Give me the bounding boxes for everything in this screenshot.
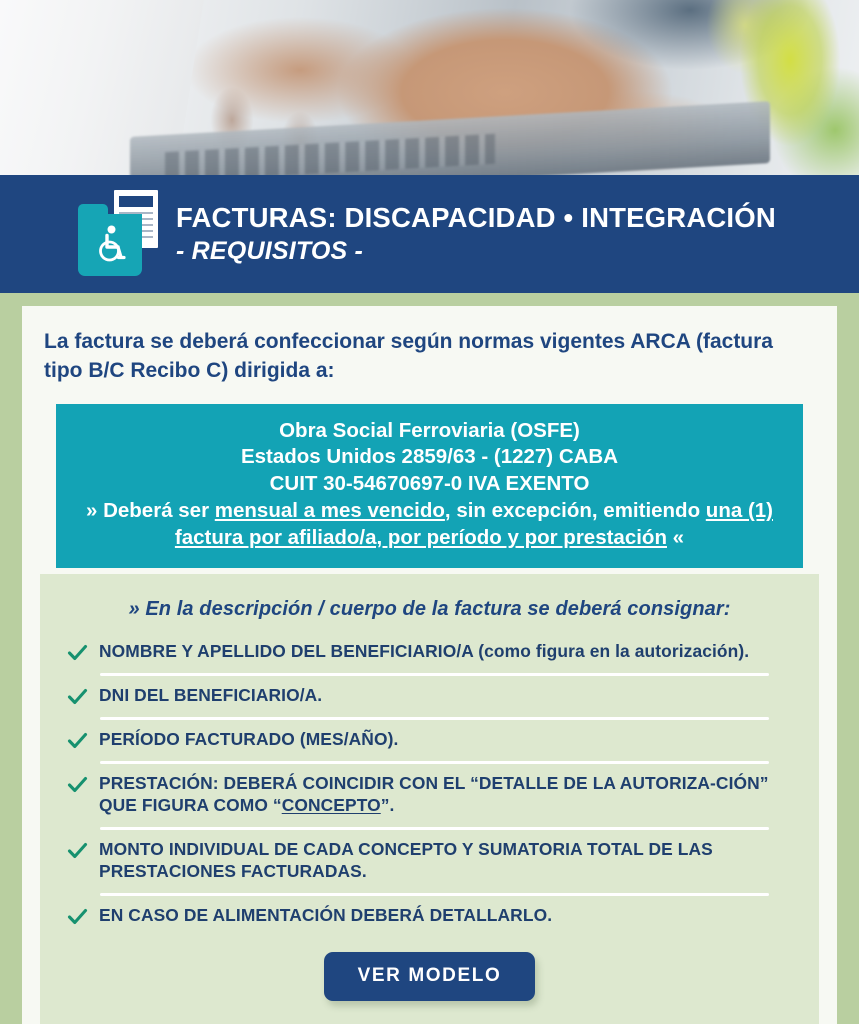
note-prefix: » Deberá ser xyxy=(86,499,215,522)
check-icon xyxy=(67,730,88,751)
list-item-text: NOMBRE Y APELLIDO DEL BENEFICIARIO/A (co… xyxy=(99,641,757,663)
note-middle: , sin excepción, emitiendo xyxy=(445,499,706,522)
list-divider xyxy=(100,673,769,676)
list-item-main: MONTO INDIVIDUAL DE CADA CONCEPTO Y SUMA… xyxy=(99,839,713,881)
folder-icon xyxy=(78,214,142,276)
list-item: DNI DEL BENEFICIARIO/A. xyxy=(62,679,797,714)
content-card: La factura se deberá confeccionar según … xyxy=(22,306,837,1024)
button-row: VER MODELO xyxy=(62,934,797,1001)
list-divider xyxy=(100,827,769,830)
check-icon xyxy=(67,840,88,861)
check-icon xyxy=(67,686,88,707)
list-item-main: NOMBRE Y APELLIDO DEL BENEFICIARIO/A xyxy=(99,641,478,661)
list-item-extra: ”. xyxy=(381,795,395,815)
list-item-text: PERÍODO FACTURADO (MES/AÑO). xyxy=(99,729,406,751)
address-billing-note: » Deberá ser mensual a mes vencido, sin … xyxy=(70,498,789,552)
page-title: FACTURAS: DISCAPACIDAD • INTEGRACIÓN xyxy=(176,202,776,234)
list-item: NOMBRE Y APELLIDO DEL BENEFICIARIO/A (co… xyxy=(62,635,797,670)
infographic-page: FACTURAS: DISCAPACIDAD • INTEGRACIÓN - R… xyxy=(0,0,859,1024)
address-line-street: Estados Unidos 2859/63 - (1227) CABA xyxy=(70,444,789,471)
check-icon xyxy=(67,906,88,927)
intro-paragraph: La factura se deberá confeccionar según … xyxy=(22,306,837,386)
check-icon xyxy=(67,642,88,663)
header-text-group: FACTURAS: DISCAPACIDAD • INTEGRACIÓN - R… xyxy=(176,202,776,266)
ver-modelo-button[interactable]: VER MODELO xyxy=(324,952,536,1001)
list-item-main: EN CASO DE ALIMENTACIÓN DEBERÁ DETALLARL… xyxy=(99,905,552,925)
address-line-cuit: CUIT 30-54670697-0 IVA EXENTO xyxy=(70,471,789,498)
checklist-panel: » En la descripción / cuerpo de la factu… xyxy=(40,574,819,1024)
list-item: MONTO INDIVIDUAL DE CADA CONCEPTO Y SUMA… xyxy=(62,833,797,890)
list-divider xyxy=(100,717,769,720)
list-item-text: MONTO INDIVIDUAL DE CADA CONCEPTO Y SUMA… xyxy=(99,839,797,883)
list-item-text: EN CASO DE ALIMENTACIÓN DEBERÁ DETALLARL… xyxy=(99,905,560,927)
list-item-main: PRESTACIÓN: DEBERÁ COINCIDIR CON EL “DET… xyxy=(99,773,769,815)
list-item: PRESTACIÓN: DEBERÁ COINCIDIR CON EL “DET… xyxy=(62,767,797,824)
list-item-text: PRESTACIÓN: DEBERÁ COINCIDIR CON EL “DET… xyxy=(99,773,797,817)
list-item-text: DNI DEL BENEFICIARIO/A. xyxy=(99,685,330,707)
address-box: Obra Social Ferroviaria (OSFE) Estados U… xyxy=(56,404,803,568)
note-suffix: « xyxy=(667,526,684,549)
list-divider xyxy=(100,893,769,896)
page-subtitle: - REQUISITOS - xyxy=(176,236,776,267)
list-item-main: DNI DEL BENEFICIARIO/A. xyxy=(99,685,322,705)
note-underline-monthly: mensual a mes vencido xyxy=(215,499,445,522)
address-line-organization: Obra Social Ferroviaria (OSFE) xyxy=(70,418,789,445)
checklist-heading: » En la descripción / cuerpo de la factu… xyxy=(62,592,797,635)
list-item-extra: (como figura en la autorización). xyxy=(478,641,749,661)
list-item: PERÍODO FACTURADO (MES/AÑO). xyxy=(62,723,797,758)
header-bar: FACTURAS: DISCAPACIDAD • INTEGRACIÓN - R… xyxy=(0,175,859,293)
folder-accessibility-document-icon xyxy=(78,188,158,280)
list-item: EN CASO DE ALIMENTACIÓN DEBERÁ DETALLARL… xyxy=(62,899,797,934)
list-item-main: PERÍODO FACTURADO (MES/AÑO). xyxy=(99,729,398,749)
hero-photo-banner xyxy=(0,0,859,175)
list-divider xyxy=(100,761,769,764)
list-item-emphasis: CONCEPTO xyxy=(282,795,381,815)
wheelchair-icon xyxy=(94,224,128,264)
check-icon xyxy=(67,774,88,795)
checklist: NOMBRE Y APELLIDO DEL BENEFICIARIO/A (co… xyxy=(62,635,797,934)
